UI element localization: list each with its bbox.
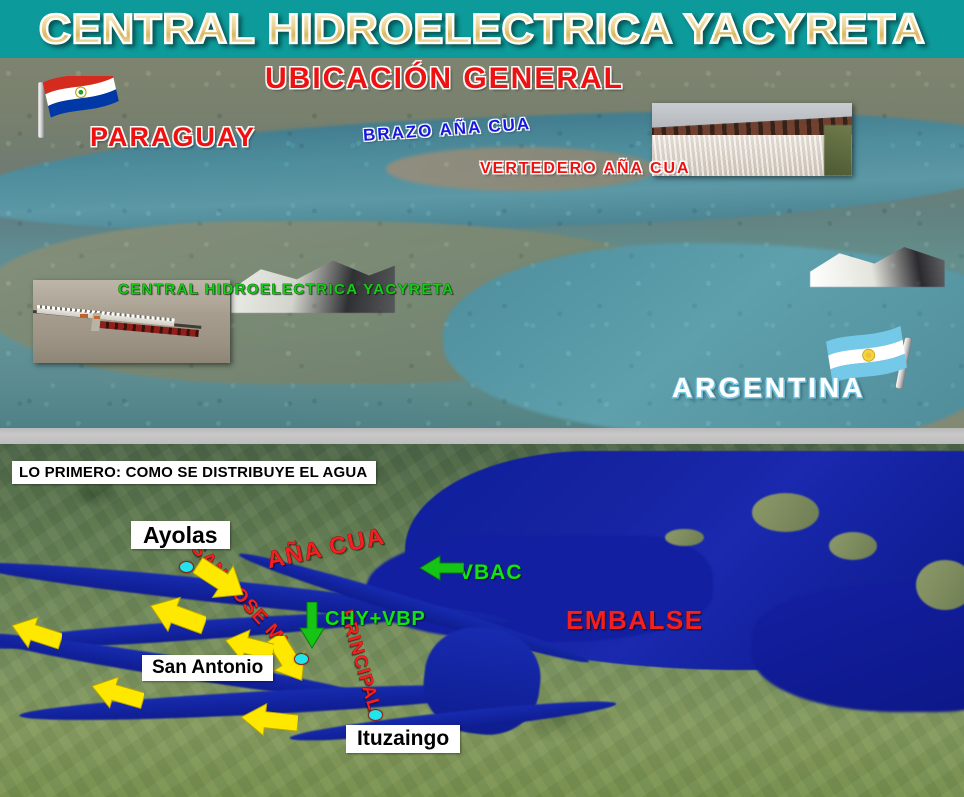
inflow-arrow-vbac xyxy=(418,553,464,583)
dam-crane-1 xyxy=(80,314,88,318)
inflow-arrow-chy-vbp xyxy=(297,602,327,650)
bottom-map-panel xyxy=(0,444,964,797)
label-embalse: EMBALSE xyxy=(566,605,704,636)
flow-label-chy-vbp: CHY+VBP xyxy=(325,608,426,631)
slide-root: CENTRAL HIDROELECTRICA YACYRETA xyxy=(0,0,964,797)
place-label-san-antonio: San Antonio xyxy=(142,655,273,681)
section-title-bottom: LO PRIMERO: COMO SE DISTRIBUYE EL AGUA xyxy=(12,461,376,484)
section-title-top: UBICACIÓN GENERAL xyxy=(265,62,624,96)
country-label-paraguay: PARAGUAY xyxy=(90,122,256,153)
flow-arrow-yellow-2 xyxy=(146,592,206,638)
dam-crane-2 xyxy=(94,316,100,319)
reservoir-island-3 xyxy=(665,529,704,547)
city-marker-ituzaingo xyxy=(368,709,383,721)
label-central-hidroelectrica: CENTRAL HIDROELECTRICA YACYRETA xyxy=(118,281,454,298)
panel-divider xyxy=(0,428,964,444)
place-label-ituzaingo: Ituzaingo xyxy=(346,725,460,753)
flow-arrow-yellow-3 xyxy=(8,612,62,654)
label-vertedero-ana-cua: VERTEDERO AÑA CUA xyxy=(480,160,691,178)
flow-arrow-yellow-4 xyxy=(88,672,144,714)
city-marker-san-antonio xyxy=(294,653,309,665)
page-title: CENTRAL HIDROELECTRICA YACYRETA xyxy=(39,5,925,53)
country-label-argentina: ARGENTINA xyxy=(672,372,865,404)
title-banner: CENTRAL HIDROELECTRICA YACYRETA xyxy=(0,0,964,58)
flow-label-vbac: VBAC xyxy=(459,561,523,585)
flow-arrow-yellow-5 xyxy=(238,700,298,740)
city-marker-ayolas xyxy=(179,561,194,573)
photo-riverbank xyxy=(824,125,852,176)
place-label-ayolas: Ayolas xyxy=(131,521,230,549)
